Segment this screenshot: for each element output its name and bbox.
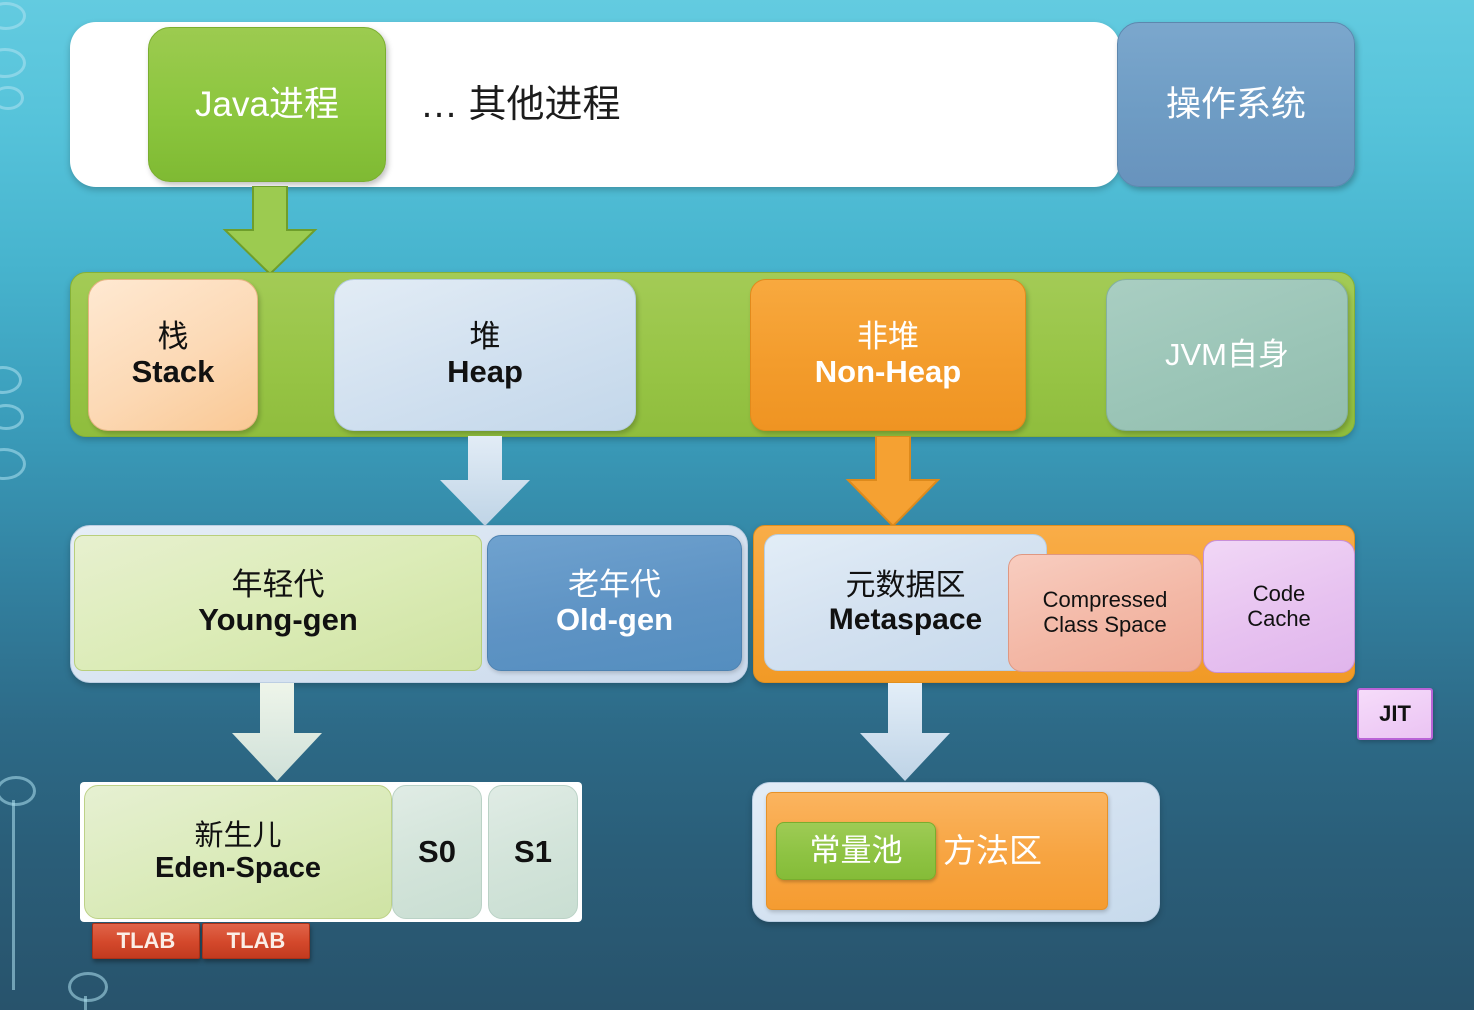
decorative-bubble-icon [0,48,26,78]
decorative-bubble-icon [68,972,108,1002]
arrow-java-process-to-memory [215,186,325,276]
other-processes-label: … 其他进程 [420,84,621,127]
jvm-self-box[interactable]: JVM自身 [1106,279,1348,431]
java-process-box[interactable]: Java进程 [148,27,386,182]
young-gen-label-cn: 年轻代 [232,568,325,603]
jit-label: JIT [1379,702,1411,727]
stack-label-cn: 栈 [158,320,189,355]
arrow-young-gen-to-eden [222,683,332,783]
survivor-s0-label: S0 [418,835,456,870]
old-gen-box[interactable]: 老年代 Old-gen [487,535,742,671]
tlab-box-1[interactable]: TLAB [92,923,200,959]
old-gen-label-cn: 老年代 [568,568,661,603]
jvm-memory-diagram: Java进程 … 其他进程 操作系统 栈 Stack 堆 Heap 非堆 Non… [0,0,1474,1010]
eden-label-en: Eden-Space [155,852,321,884]
survivor-s1-label: S1 [514,835,552,870]
survivor-s0-box[interactable]: S0 [392,785,482,919]
heap-label-cn: 堆 [470,320,501,355]
jvm-self-label: JVM自身 [1165,338,1289,373]
old-gen-label-en: Old-gen [556,603,673,638]
code-cache-line1: Code [1253,582,1306,607]
constant-pool-label: 常量池 [810,834,903,869]
decorative-bubble-stem [84,996,87,1010]
other-processes-label-box: … 其他进程 [420,60,820,150]
stack-label-en: Stack [132,355,215,390]
metaspace-label-en: Metaspace [829,603,982,637]
decorative-bubble-icon [0,448,26,480]
decorative-bubble-icon [0,776,36,806]
heap-box[interactable]: 堆 Heap [334,279,636,431]
stack-box[interactable]: 栈 Stack [88,279,258,431]
java-process-label: Java进程 [195,85,339,124]
survivor-s1-box[interactable]: S1 [488,785,578,919]
young-gen-box[interactable]: 年轻代 Young-gen [74,535,482,671]
decorative-bubble-stem [12,800,15,990]
arrow-nonheap-to-nonheap-detail [838,436,948,528]
decorative-bubble-icon [0,2,26,30]
decorative-bubble-icon [0,404,24,430]
arrow-metaspace-to-method-area [850,683,960,783]
heap-label-en: Heap [447,355,523,390]
compressed-class-space-line1: Compressed [1043,588,1168,613]
jit-box[interactable]: JIT [1357,688,1433,740]
non-heap-label-cn: 非堆 [857,320,919,355]
metaspace-box[interactable]: 元数据区 Metaspace [764,534,1047,671]
method-area-label: 方法区 [943,833,1042,870]
operating-system-label: 操作系统 [1166,85,1306,124]
operating-system-box[interactable]: 操作系统 [1117,22,1355,187]
eden-space-box[interactable]: 新生儿 Eden-Space [84,785,392,919]
compressed-class-space-line2: Class Space [1043,613,1167,638]
code-cache-box[interactable]: Code Cache [1203,540,1355,673]
tlab-box-2[interactable]: TLAB [202,923,310,959]
code-cache-line2: Cache [1247,607,1311,632]
non-heap-label-en: Non-Heap [815,355,961,390]
tlab-label-2: TLAB [227,928,286,954]
decorative-bubble-icon [0,86,24,110]
decorative-bubble-icon [0,366,22,394]
constant-pool-box[interactable]: 常量池 [776,822,936,880]
young-gen-label-en: Young-gen [198,603,358,638]
compressed-class-space-box[interactable]: Compressed Class Space [1008,554,1202,672]
non-heap-box[interactable]: 非堆 Non-Heap [750,279,1026,431]
tlab-label-1: TLAB [117,928,176,954]
eden-label-cn: 新生儿 [194,820,281,852]
metaspace-label-cn: 元数据区 [846,569,966,603]
arrow-heap-to-heap-detail [430,436,540,528]
